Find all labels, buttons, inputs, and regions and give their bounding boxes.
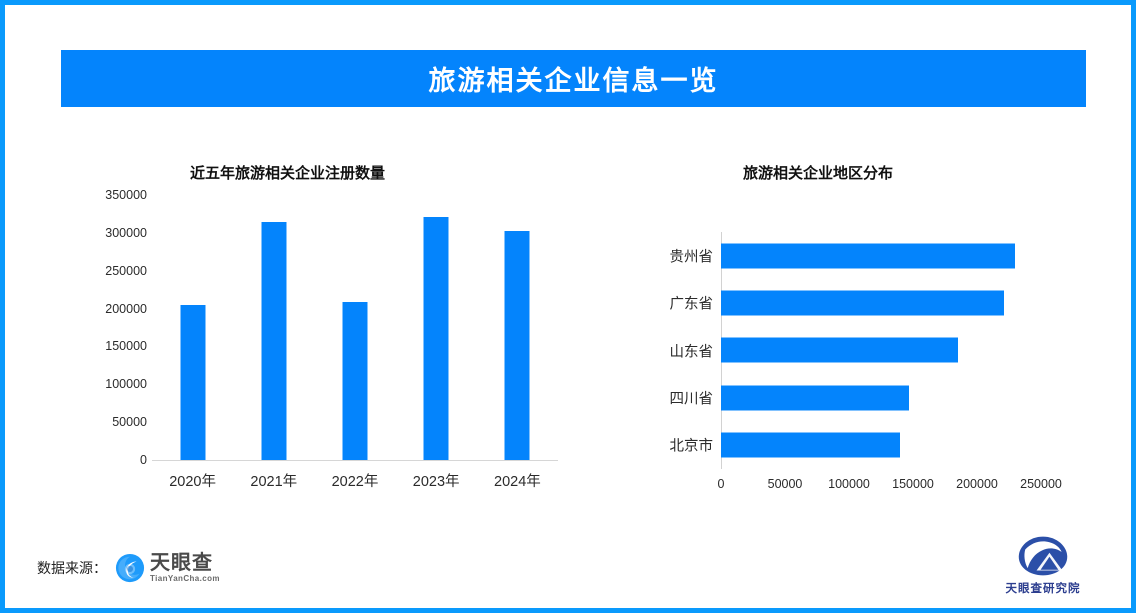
data-source-block: 数据来源： 天眼查 TianYanCha.com [37,553,220,583]
institute-name: 天眼查研究院 [1006,580,1081,596]
bar-registrations[interactable] [424,217,449,460]
vertical-bar-chart: 3500003000002500002000001500001000005000… [65,145,585,515]
x-axis-category-label: 2020年 [152,470,233,491]
y-axis-tick-label: 200000 [89,302,147,316]
y-axis-tick-label: 50000 [89,415,147,429]
y-axis-tick-label: 300000 [89,226,147,240]
y-axis-tick-label: 0 [89,453,147,467]
x-axis-baseline [152,460,558,461]
bar-region[interactable] [721,433,900,458]
tianyancha-eye-icon [115,553,145,583]
horizontal-bar-chart: 贵州省广东省山东省四川省北京市 050000100000150000200000… [605,145,1085,515]
tianyancha-name-en: TianYanCha.com [150,575,220,583]
x-axis-tick-label: 150000 [892,477,934,491]
bar-row [721,232,1041,279]
x-axis-category-label: 2024年 [477,470,558,491]
bar-region[interactable] [721,338,958,363]
y-axis-category-label: 贵州省 [641,245,713,266]
page-title: 旅游相关企业信息一览 [429,59,719,98]
y-axis-tick-label: 250000 [89,264,147,278]
x-axis-tick-label: 50000 [768,477,803,491]
tianyancha-wordmark: 天眼查 TianYanCha.com [150,553,220,583]
y-axis-tick-label: 150000 [89,339,147,353]
y-axis-category-label: 北京市 [641,435,713,456]
x-axis-category-label: 2022年 [314,470,395,491]
data-source-label: 数据来源： [37,558,107,578]
x-axis-tick-label: 0 [718,477,725,491]
tianyancha-name-cn: 天眼查 [150,553,220,573]
y-axis-tick-labels: 3500003000002500002000001500001000005000… [87,145,147,515]
bar-registrations[interactable] [261,222,286,461]
y-axis-category-label: 四川省 [641,387,713,408]
y-axis-category-label: 山东省 [641,340,713,361]
bar-row [721,327,1041,374]
header-banner: 旅游相关企业信息一览 [61,50,1086,107]
bar-slot [396,195,477,460]
bar-slot [477,195,558,460]
x-axis-tick-label: 100000 [828,477,870,491]
registration-count-chart-panel: 近五年旅游相关企业注册数量 35000030000025000020000015… [65,145,585,515]
bar-slot [314,195,395,460]
x-axis-category-label: 2023年 [396,470,477,491]
bar-slot [152,195,233,460]
institute-emblem-icon [1017,535,1069,577]
x-axis-tick-label: 200000 [956,477,998,491]
bar-row [721,279,1041,326]
bar-row [721,374,1041,421]
bar-registrations[interactable] [180,305,205,460]
bar-registrations[interactable] [342,302,367,460]
x-axis-category-label: 2021年 [233,470,314,491]
vertical-bars-plot-area [152,195,558,460]
tianyancha-logo: 天眼查 TianYanCha.com [115,553,220,583]
region-distribution-chart-panel: 旅游相关企业地区分布 贵州省广东省山东省四川省北京市 0500001000001… [605,145,1085,515]
x-axis-tick-label: 250000 [1020,477,1062,491]
bar-slot [233,195,314,460]
bar-region[interactable] [721,243,1015,268]
institute-block: 天眼查研究院 [989,535,1097,596]
bar-region[interactable] [721,385,909,410]
horizontal-bars-plot-area [721,232,1041,469]
y-axis-category-label: 广东省 [641,293,713,314]
bar-row [721,422,1041,469]
bar-registrations[interactable] [505,231,530,460]
y-axis-tick-label: 100000 [89,377,147,391]
y-axis-tick-label: 350000 [89,188,147,202]
infographic-page: 旅游相关企业信息一览 近五年旅游相关企业注册数量 350000300000250… [0,0,1136,613]
bar-region[interactable] [721,291,1004,316]
